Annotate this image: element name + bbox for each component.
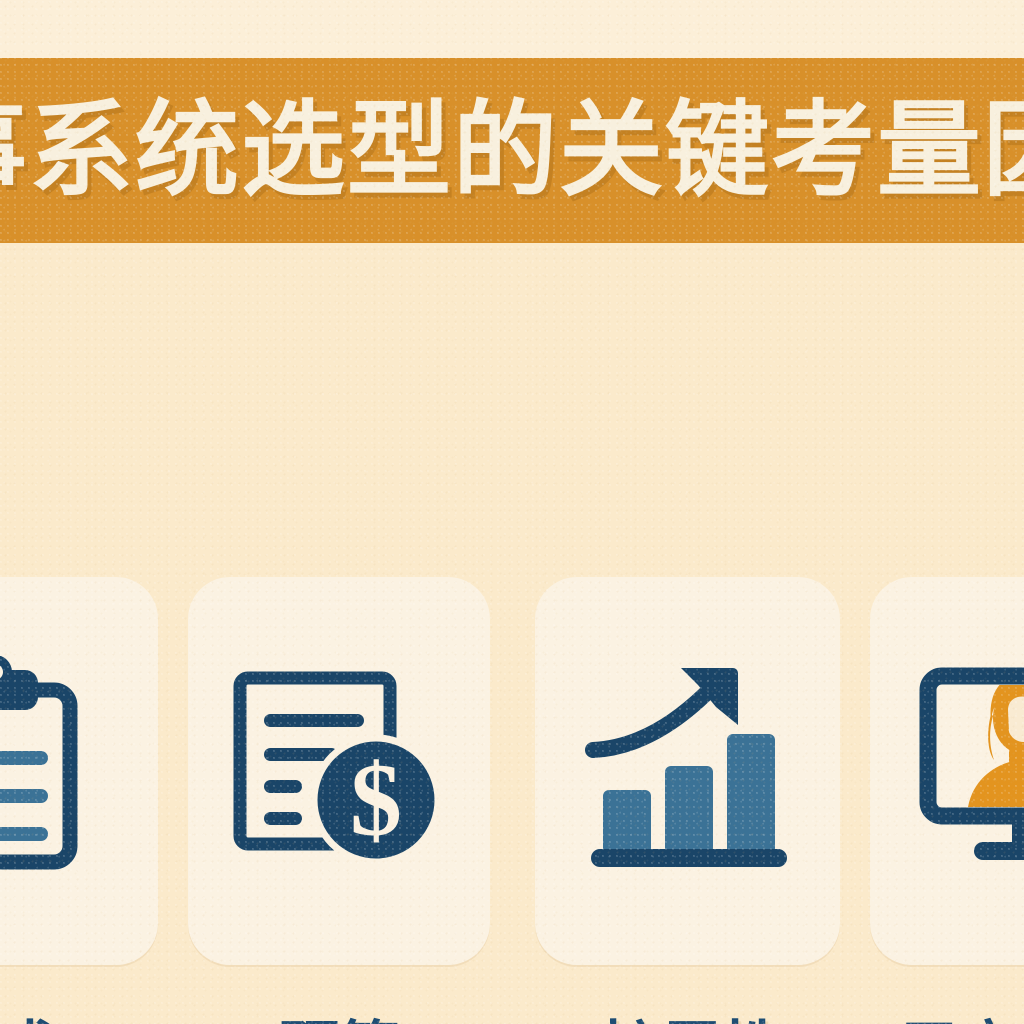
monitor-user-portrait-icon [908,656,1024,886]
label-row: 需求 预算 扩展性 用户 [0,1005,1024,1024]
card-user-experience[interactable] [870,577,1024,965]
clipboard-checklist-icon [0,656,120,886]
banner-title-text: 人事系统选型的关键考量因素 [0,99,1024,203]
label-budget: 预算 [194,1005,486,1024]
card-scalability[interactable] [535,577,840,965]
card-budget[interactable]: $ [188,577,490,965]
content-area: $ [0,243,1024,1024]
card-row: $ [0,577,1024,965]
label-user-experience: 用户 [898,1005,1024,1024]
document-dollar-coin-icon: $ [224,656,454,886]
card-requirements[interactable] [0,577,158,965]
infographic-canvas: 人事系统选型的关键考量因素 [0,0,1024,1024]
svg-text:$: $ [350,743,402,858]
title-banner: 人事系统选型的关键考量因素 [0,58,1024,243]
top-margin-strip [0,0,1024,58]
label-requirements: 需求 [0,1005,186,1024]
growth-bar-chart-arrow-icon [573,656,803,886]
label-scalability: 扩展性 [542,1005,842,1024]
